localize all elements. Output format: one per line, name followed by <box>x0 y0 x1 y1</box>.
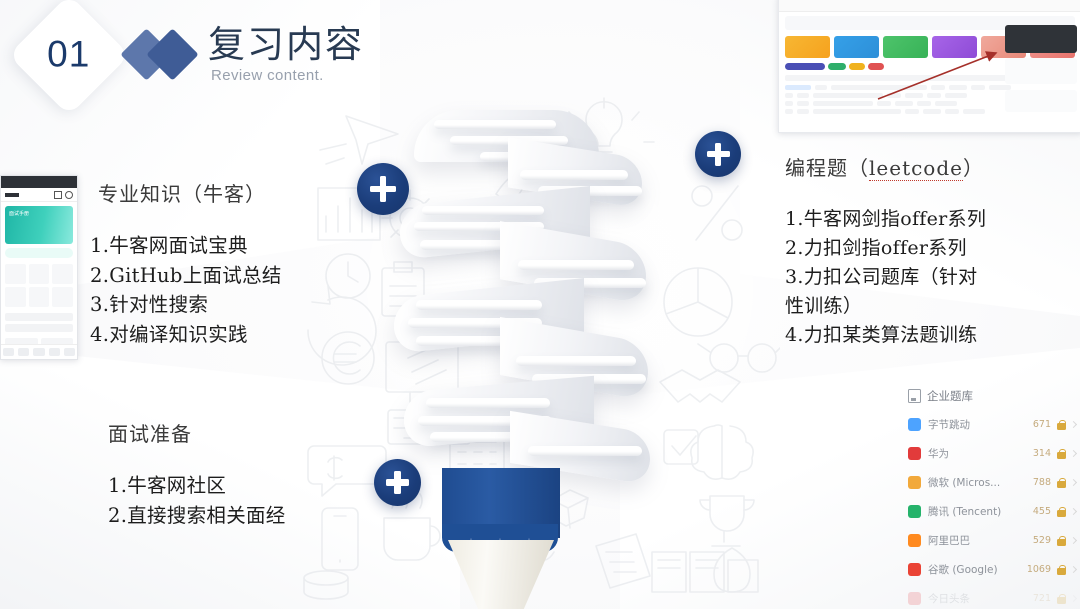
chevron-right-icon <box>1070 479 1077 486</box>
list-item: 1.牛客网剑指offer系列 <box>785 205 1075 234</box>
lock-icon <box>1057 594 1066 604</box>
list-item: 4.对编译知识实践 <box>90 320 282 350</box>
company-name: 谷歌 (Google) <box>928 562 1027 577</box>
search-icon <box>65 191 73 199</box>
company-row[interactable]: 阿里巴巴529 <box>908 533 1076 548</box>
interview-list: 1.牛客网社区 2.直接搜索相关面经 <box>108 471 286 530</box>
plus-button-top-right[interactable] <box>695 131 741 177</box>
slide-canvas: 01 复习内容 Review content. <box>0 0 1080 609</box>
company-logo-icon <box>908 447 921 460</box>
company-row[interactable]: 今日头条721 <box>908 591 1076 606</box>
company-logo-icon <box>908 592 921 605</box>
company-problem-count: 721 <box>1033 593 1051 604</box>
company-logo-icon <box>908 418 921 431</box>
list-item: 2.直接搜索相关面经 <box>108 501 286 531</box>
mobile-banner-text: 面试手册 <box>9 211 29 218</box>
chevron-right-icon <box>1070 595 1077 602</box>
company-problem-count: 671 <box>1033 419 1051 430</box>
plus-button-top-left[interactable] <box>357 163 409 215</box>
company-logo-icon <box>908 534 921 547</box>
red-annotation-arrow <box>874 49 1004 103</box>
coding-heading-prefix: 编程题（ <box>785 156 869 180</box>
company-problem-count: 314 <box>1033 448 1051 459</box>
list-item: 3.力扣公司题库（针对 <box>785 263 1075 292</box>
section-number-badge: 01 <box>8 0 130 116</box>
company-problem-count: 1069 <box>1027 564 1051 575</box>
knowledge-list: 1.牛客网面试宝典 2.GitHub上面试总结 3.针对性搜索 4.对编译知识实… <box>90 231 282 350</box>
company-problem-count: 529 <box>1033 535 1051 546</box>
lock-icon <box>1057 449 1066 459</box>
company-logo-icon <box>908 476 921 489</box>
nowcoder-mobile-app-screenshot: 面试手册 <box>0 175 78 360</box>
page-subtitle: Review content. <box>211 67 364 84</box>
chevron-right-icon <box>1070 450 1077 457</box>
lock-icon <box>1057 507 1066 517</box>
coding-heading-suffix: ） <box>963 156 984 180</box>
mobile-nav-bar <box>1 188 77 202</box>
coding-heading: 编程题（leetcode） <box>785 152 1075 181</box>
knowledge-heading: 专业知识（牛客） <box>98 178 282 207</box>
coding-list: 1.牛客网剑指offer系列 2.力扣剑指offer系列 3.力扣公司题库（针对… <box>785 205 1075 349</box>
list-item: 2.力扣剑指offer系列 <box>785 234 1075 263</box>
title-group: 复习内容 Review content. <box>208 26 364 84</box>
lock-icon <box>1057 420 1066 430</box>
company-name: 华为 <box>928 446 1033 461</box>
company-problem-count: 455 <box>1033 506 1051 517</box>
mobile-tab-bar <box>1 344 77 359</box>
coding-text-block: 编程题（leetcode） 1.牛客网剑指offer系列 2.力扣剑指offer… <box>785 152 1075 349</box>
staircase-graphic <box>360 110 690 480</box>
company-list: 字节跳动671华为314微软 (Micros...788腾讯 (Tencent)… <box>908 417 1076 606</box>
lock-icon <box>1057 565 1066 575</box>
slide-header: 01 复习内容 Review content. <box>26 12 364 98</box>
leetcode-link[interactable]: leetcode <box>869 156 963 181</box>
mobile-icon-grid <box>1 261 77 310</box>
leetcode-sidebar <box>1005 25 1077 112</box>
company-row[interactable]: 字节跳动671 <box>908 417 1076 432</box>
company-problem-count: 788 <box>1033 477 1051 488</box>
chevron-right-icon <box>1070 566 1077 573</box>
company-name: 字节跳动 <box>928 417 1033 432</box>
diamond-logo-icon <box>128 29 198 81</box>
panel-title-text: 企业题库 <box>927 388 973 404</box>
company-problem-bank-panel: 企业题库 字节跳动671华为314微软 (Micros...788腾讯 (Ten… <box>908 388 1076 609</box>
mobile-section-rows <box>1 310 77 338</box>
page-title: 复习内容 <box>208 26 364 65</box>
company-logo-icon <box>908 505 921 518</box>
chevron-right-icon <box>1070 421 1077 428</box>
interview-text-block: 面试准备 1.牛客网社区 2.直接搜索相关面经 <box>108 418 286 530</box>
mobile-pill <box>5 248 73 258</box>
list-item: 1.牛客网面试宝典 <box>90 231 282 261</box>
leetcode-website-screenshot <box>778 0 1080 133</box>
mobile-banner: 面试手册 <box>5 206 73 244</box>
list-item: 性训练） <box>785 292 1075 321</box>
company-name: 腾讯 (Tencent) <box>928 504 1033 519</box>
list-item: 1.牛客网社区 <box>108 471 286 501</box>
chevron-right-icon <box>1070 508 1077 515</box>
grid-icon <box>54 191 62 199</box>
knowledge-text-block: 专业知识（牛客） 1.牛客网面试宝典 2.GitHub上面试总结 3.针对性搜索… <box>90 178 282 350</box>
plus-button-bottom-left[interactable] <box>374 459 421 506</box>
lock-icon <box>1057 536 1066 546</box>
company-row[interactable]: 腾讯 (Tencent)455 <box>908 504 1076 519</box>
book-icon <box>908 389 921 403</box>
panel-header: 企业题库 <box>908 388 1076 404</box>
list-item: 2.GitHub上面试总结 <box>90 261 282 291</box>
company-name: 阿里巴巴 <box>928 533 1033 548</box>
company-name: 今日头条 <box>928 591 1033 606</box>
company-name: 微软 (Micros... <box>928 475 1033 490</box>
company-row[interactable]: 华为314 <box>908 446 1076 461</box>
pencil-graphic <box>442 468 560 609</box>
list-item: 4.力扣某类算法题训练 <box>785 321 1075 350</box>
section-number: 01 <box>47 34 90 76</box>
chevron-right-icon <box>1070 537 1077 544</box>
company-logo-icon <box>908 563 921 576</box>
company-row[interactable]: 谷歌 (Google)1069 <box>908 562 1076 577</box>
interview-heading: 面试准备 <box>108 418 286 447</box>
company-row[interactable]: 微软 (Micros...788 <box>908 475 1076 490</box>
list-item: 3.针对性搜索 <box>90 290 282 320</box>
leetcode-top-bar <box>779 0 1080 12</box>
mobile-status-bar <box>1 176 77 188</box>
lock-icon <box>1057 478 1066 488</box>
